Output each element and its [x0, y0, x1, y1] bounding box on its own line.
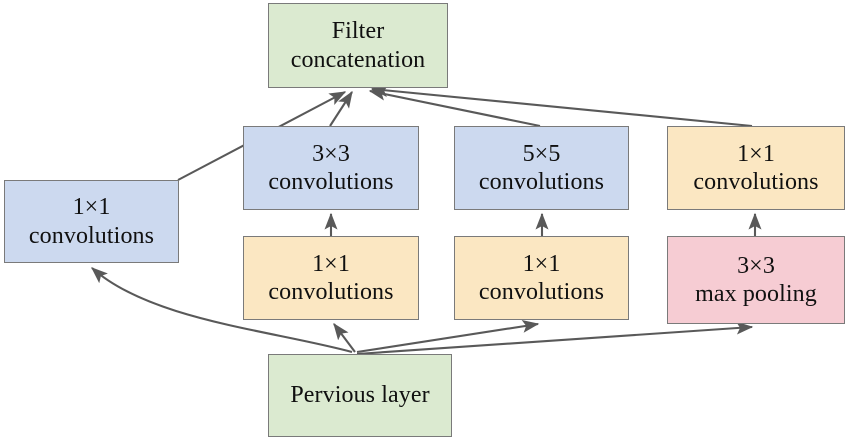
- node-label-line-2: convolutions: [693, 168, 818, 196]
- edge-pervious-layer-to-reduce-3x3: [334, 324, 355, 352]
- node-label-line-2: convolutions: [268, 168, 393, 196]
- node-label-line-1: 3×3: [312, 140, 350, 168]
- node-label-line-2: concatenation: [291, 46, 426, 74]
- conv-1x1-left-node[interactable]: 1×1convolutions: [4, 180, 179, 263]
- filter-concatenation-node[interactable]: Filterconcatenation: [268, 3, 448, 88]
- conv-1x1-reduce-for-5x5-node[interactable]: 1×1convolutions: [454, 236, 629, 320]
- node-label-line-1: Filter: [332, 17, 385, 45]
- edge-conv5x5-to-filter-concatenation: [370, 91, 540, 126]
- conv-1x1-reduce-for-3x3-node[interactable]: 1×1convolutions: [243, 236, 419, 320]
- node-label-line-1: 5×5: [523, 140, 561, 168]
- node-label-line-1: 1×1: [523, 250, 561, 278]
- pervious-layer-node[interactable]: Pervious layer: [268, 354, 452, 437]
- edge-conv1x1-top-right-to-filter-concatenation: [372, 89, 752, 126]
- node-label-line-1: 1×1: [737, 140, 775, 168]
- node-label-line-1: 3×3: [737, 252, 775, 280]
- node-label-line-2: convolutions: [29, 222, 154, 250]
- node-label-line-2: convolutions: [479, 278, 604, 306]
- inception-module-diagram: Filterconcatenation1×1convolutions3×3con…: [0, 0, 850, 437]
- conv-5x5-node[interactable]: 5×5convolutions: [454, 126, 629, 210]
- node-label-line-1: 1×1: [312, 250, 350, 278]
- edge-pervious-layer-to-reduce-5x5: [357, 324, 538, 352]
- edge-pervious-layer-to-maxpool: [357, 327, 752, 354]
- node-label-line-2: convolutions: [479, 168, 604, 196]
- max-pooling-3x3-node[interactable]: 3×3max pooling: [667, 236, 845, 324]
- conv-1x1-top-right-node[interactable]: 1×1convolutions: [667, 126, 845, 210]
- node-label-line-1: 1×1: [73, 193, 111, 221]
- node-label-line-2: convolutions: [268, 278, 393, 306]
- edge-conv3x3-to-filter-concatenation: [330, 92, 352, 126]
- node-label-line-1: Pervious layer: [290, 381, 429, 409]
- node-label-line-2: max pooling: [695, 280, 817, 308]
- conv-3x3-node[interactable]: 3×3convolutions: [243, 126, 419, 210]
